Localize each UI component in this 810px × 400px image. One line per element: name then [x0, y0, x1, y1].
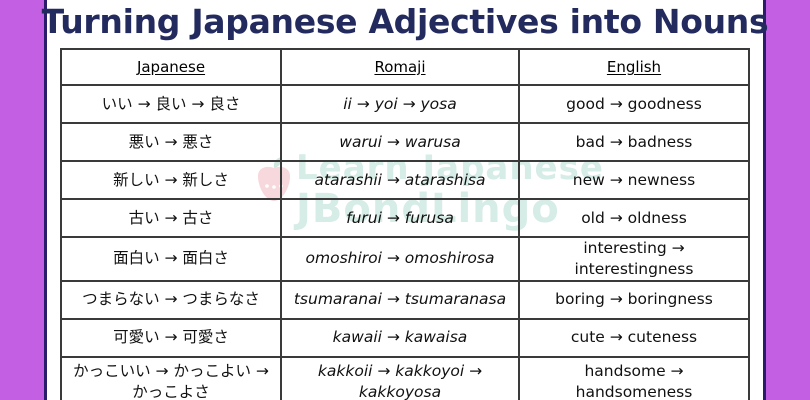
table-row: つまらない → つまらなさ tsumaranai → tsumaranasa b…: [61, 281, 749, 319]
column-header-japanese: Japanese: [61, 49, 281, 85]
cell-romaji: omoshiroi → omoshirosa: [281, 237, 519, 281]
cell-japanese: 面白い → 面白さ: [61, 237, 281, 281]
cell-romaji: ii → yoi → yosa: [281, 85, 519, 123]
page-title: Turning Japanese Adjectives into Nouns: [0, 2, 810, 41]
table-header-row: Japanese Romaji English: [61, 49, 749, 85]
cell-english: new → newness: [519, 161, 749, 199]
cell-romaji: warui → warusa: [281, 123, 519, 161]
cell-english: handsome → handsomeness: [519, 357, 749, 400]
cell-japanese: 可愛い → 可愛さ: [61, 319, 281, 357]
cell-romaji: kakkoii → kakkoyoi → kakkoyosa: [281, 357, 519, 400]
cell-english: boring → boringness: [519, 281, 749, 319]
left-decorative-bar: [0, 0, 44, 400]
table-row: 悪い → 悪さ warui → warusa bad → badness: [61, 123, 749, 161]
cell-english: bad → badness: [519, 123, 749, 161]
cell-english: cute → cuteness: [519, 319, 749, 357]
cell-english: good → goodness: [519, 85, 749, 123]
table-row: 可愛い → 可愛さ kawaii → kawaisa cute → cutene…: [61, 319, 749, 357]
table-row: 新しい → 新しさ atarashii → atarashisa new → n…: [61, 161, 749, 199]
column-header-english-label: English: [607, 58, 661, 76]
table-header: Japanese Romaji English: [61, 49, 749, 85]
infographic-page: Learn Japanese JBondLingo Turning Japane…: [0, 0, 810, 400]
cell-romaji: tsumaranai → tsumaranasa: [281, 281, 519, 319]
table-row: かっこいい → かっこよい → かっこよさ kakkoii → kakkoyoi…: [61, 357, 749, 400]
table-body: いい → 良い → 良さ ii → yoi → yosa good → good…: [61, 85, 749, 400]
cell-japanese: 悪い → 悪さ: [61, 123, 281, 161]
adjective-noun-table: Japanese Romaji English いい → 良い → 良さ ii …: [60, 48, 750, 400]
right-accent-rule: [763, 0, 766, 400]
column-header-english: English: [519, 49, 749, 85]
column-header-japanese-label: Japanese: [137, 58, 205, 76]
cell-romaji: atarashii → atarashisa: [281, 161, 519, 199]
cell-japanese: かっこいい → かっこよい → かっこよさ: [61, 357, 281, 400]
adjective-noun-table-wrapper: Japanese Romaji English いい → 良い → 良さ ii …: [60, 48, 748, 400]
cell-japanese: 古い → 古さ: [61, 199, 281, 237]
column-header-romaji: Romaji: [281, 49, 519, 85]
right-decorative-bar: [766, 0, 810, 400]
table-row: いい → 良い → 良さ ii → yoi → yosa good → good…: [61, 85, 749, 123]
cell-english: old → oldness: [519, 199, 749, 237]
cell-japanese: つまらない → つまらなさ: [61, 281, 281, 319]
cell-romaji: kawaii → kawaisa: [281, 319, 519, 357]
table-row: 古い → 古さ furui → furusa old → oldness: [61, 199, 749, 237]
left-accent-rule: [44, 0, 47, 400]
cell-romaji: furui → furusa: [281, 199, 519, 237]
cell-japanese: 新しい → 新しさ: [61, 161, 281, 199]
cell-english: interesting → interestingness: [519, 237, 749, 281]
cell-japanese: いい → 良い → 良さ: [61, 85, 281, 123]
table-row: 面白い → 面白さ omoshiroi → omoshirosa interes…: [61, 237, 749, 281]
column-header-romaji-label: Romaji: [374, 58, 425, 76]
